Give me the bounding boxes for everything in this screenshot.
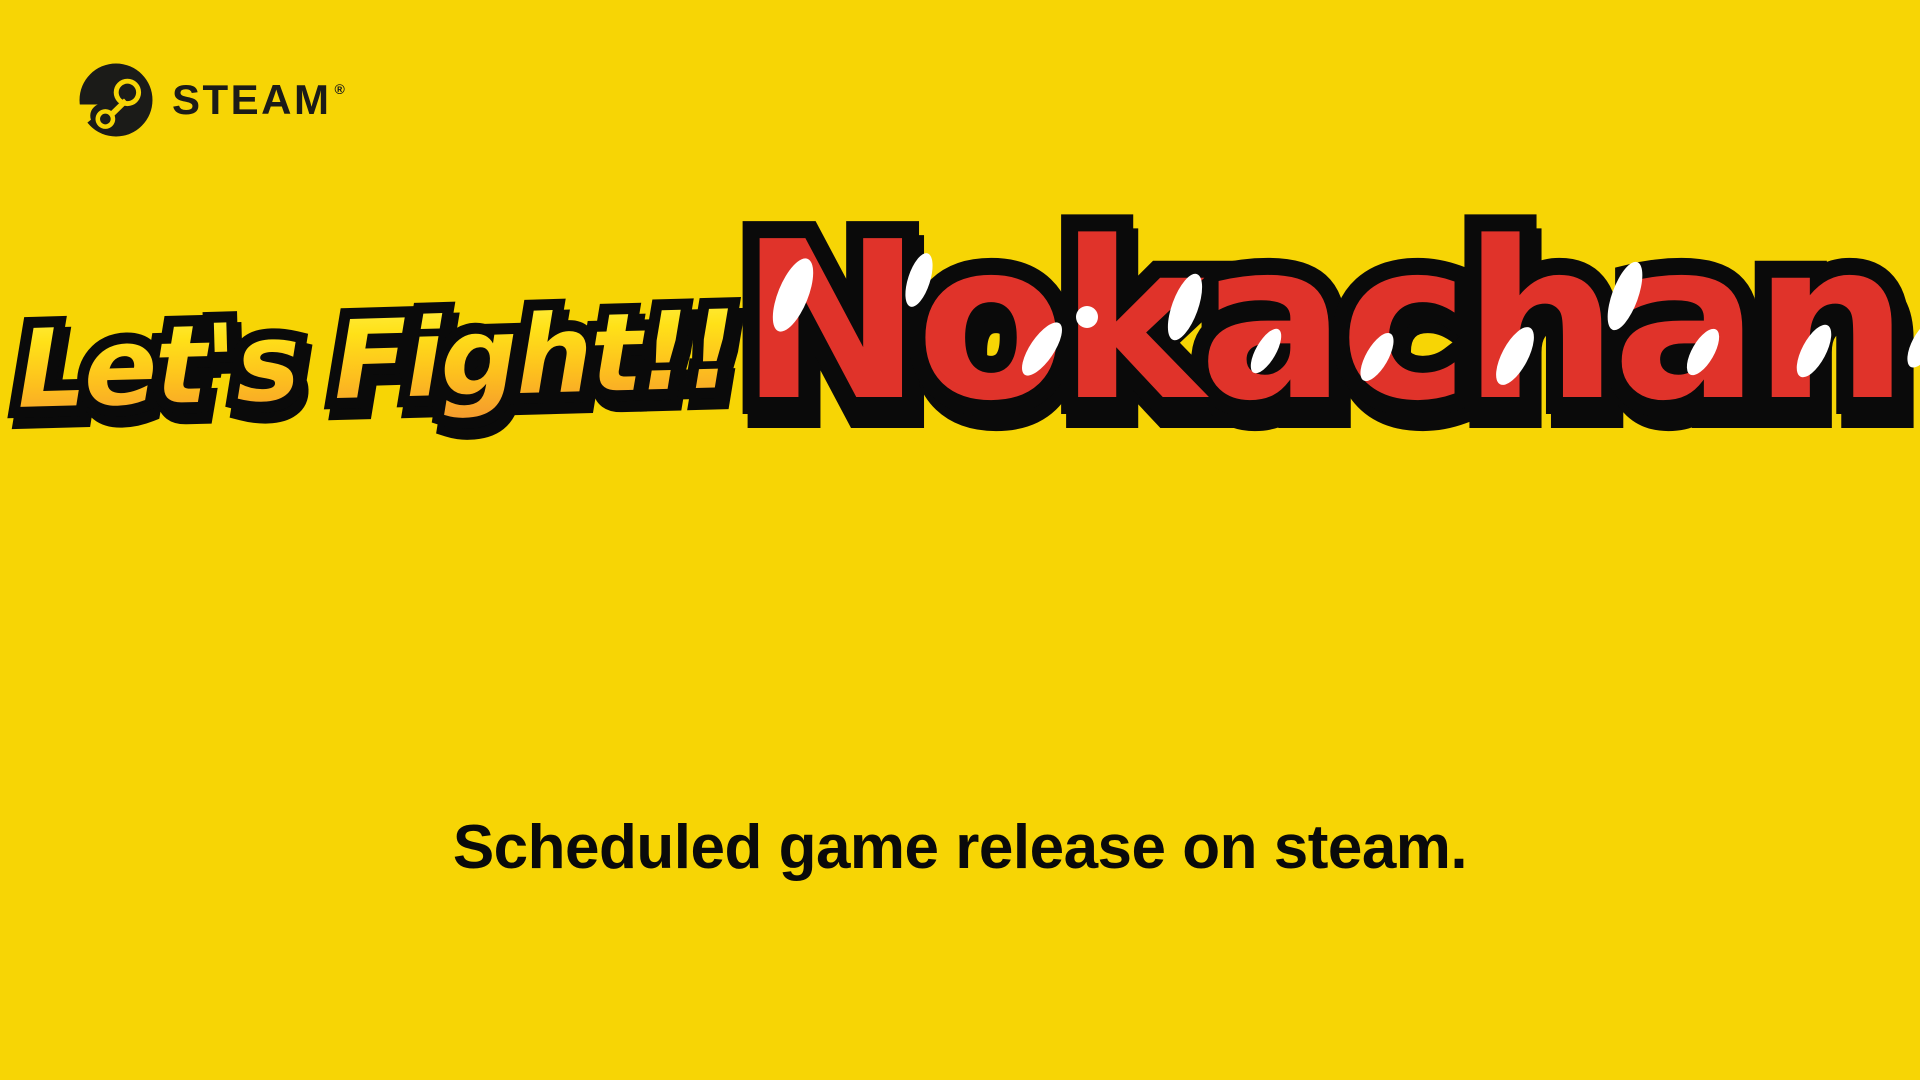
logo-tagline-text: Let's Fight!! bbox=[16, 288, 737, 433]
steam-brand-lockup: STEAM ® bbox=[78, 62, 345, 138]
steam-wordmark-label: STEAM bbox=[172, 79, 332, 121]
steam-wordmark: STEAM ® bbox=[172, 79, 345, 121]
logo-tagline: Let's Fight!! Let's Fight!! Let's Fight!… bbox=[16, 294, 737, 428]
logo-title-text: Nokachan bbox=[740, 196, 1903, 449]
logo-title: Nokachan Nokachan Nokachan bbox=[740, 214, 1903, 432]
release-subtitle: Scheduled game release on steam. bbox=[0, 812, 1920, 883]
registered-trademark-symbol: ® bbox=[335, 82, 345, 96]
steam-logo-icon bbox=[78, 62, 154, 138]
game-logo: Let's Fight!! Let's Fight!! Let's Fight!… bbox=[0, 232, 1920, 432]
